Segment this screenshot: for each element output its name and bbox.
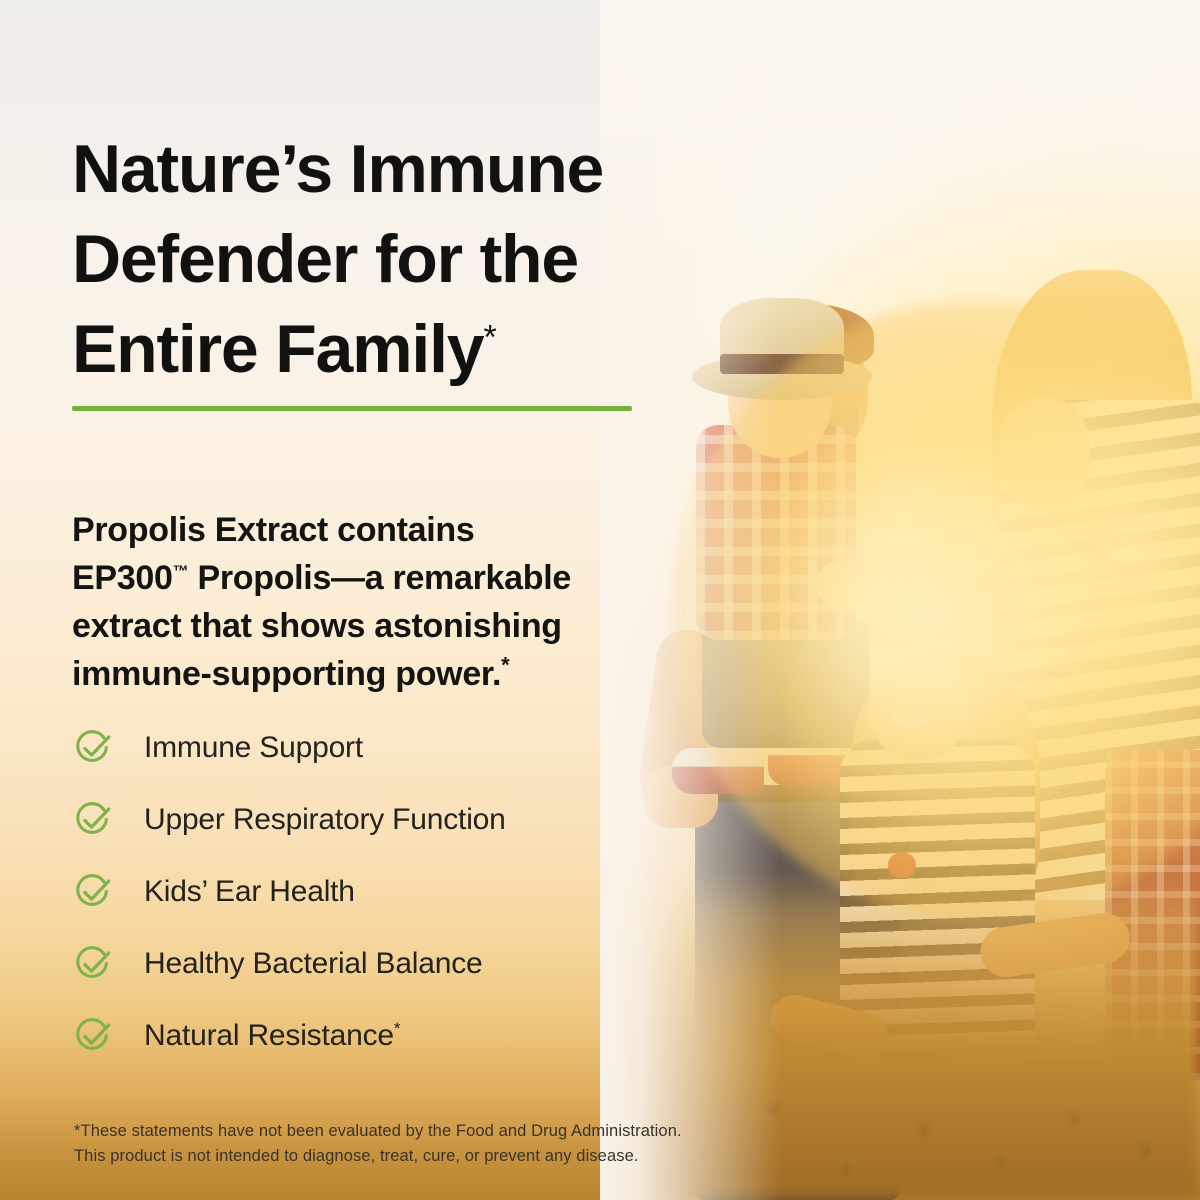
check-circle-icon bbox=[72, 1015, 114, 1057]
list-item: Kids’ Ear Health bbox=[72, 856, 732, 928]
headline-line-2: Defender for the bbox=[72, 221, 578, 297]
trademark-symbol: ™ bbox=[173, 564, 189, 581]
list-item: Healthy Bacterial Balance bbox=[72, 928, 732, 1000]
benefit-label: Healthy Bacterial Balance bbox=[144, 947, 483, 981]
headline-line-1: Nature’s Immune bbox=[72, 131, 603, 207]
benefit-label: Upper Respiratory Function bbox=[144, 803, 506, 837]
lede-line-1: Propolis Extract contains bbox=[72, 511, 475, 549]
lede-line-3: extract that shows astonishing bbox=[72, 607, 562, 645]
page-title: Nature’s Immune Defender for the Entire … bbox=[72, 124, 772, 394]
benefit-footnote-marker: * bbox=[394, 1019, 400, 1038]
product-description: Propolis Extract contains EP300™ Propoli… bbox=[72, 506, 712, 698]
benefits-list: Immune Support Upper Respiratory Functio… bbox=[72, 712, 732, 1072]
promo-poster: Nature’s Immune Defender for the Entire … bbox=[0, 0, 1200, 1200]
headline-line-3: Entire Family bbox=[72, 311, 483, 387]
list-item: Natural Resistance* bbox=[72, 1000, 732, 1072]
disclaimer-line-1: *These statements have not been evaluate… bbox=[74, 1122, 682, 1140]
benefit-label: Kids’ Ear Health bbox=[144, 875, 355, 909]
check-circle-icon bbox=[72, 943, 114, 985]
check-circle-icon bbox=[72, 871, 114, 913]
check-circle-icon bbox=[72, 799, 114, 841]
benefit-label: Immune Support bbox=[144, 731, 363, 765]
headline-footnote-marker: * bbox=[483, 318, 495, 356]
lede-line-2b: Propolis—a remarkable bbox=[188, 559, 571, 597]
green-divider bbox=[72, 406, 632, 411]
lede-brand: EP300 bbox=[72, 559, 173, 597]
benefit-label: Natural Resistance* bbox=[144, 1019, 400, 1053]
disclaimer-line-2: This product is not intended to diagnose… bbox=[74, 1147, 639, 1165]
lede-footnote-marker: * bbox=[501, 653, 509, 678]
list-item: Upper Respiratory Function bbox=[72, 784, 732, 856]
check-circle-icon bbox=[72, 727, 114, 769]
list-item: Immune Support bbox=[72, 712, 732, 784]
fda-disclaimer: *These statements have not been evaluate… bbox=[74, 1119, 754, 1169]
lede-line-4: immune-supporting power. bbox=[72, 655, 501, 693]
content-column: Nature’s Immune Defender for the Entire … bbox=[0, 0, 760, 1200]
